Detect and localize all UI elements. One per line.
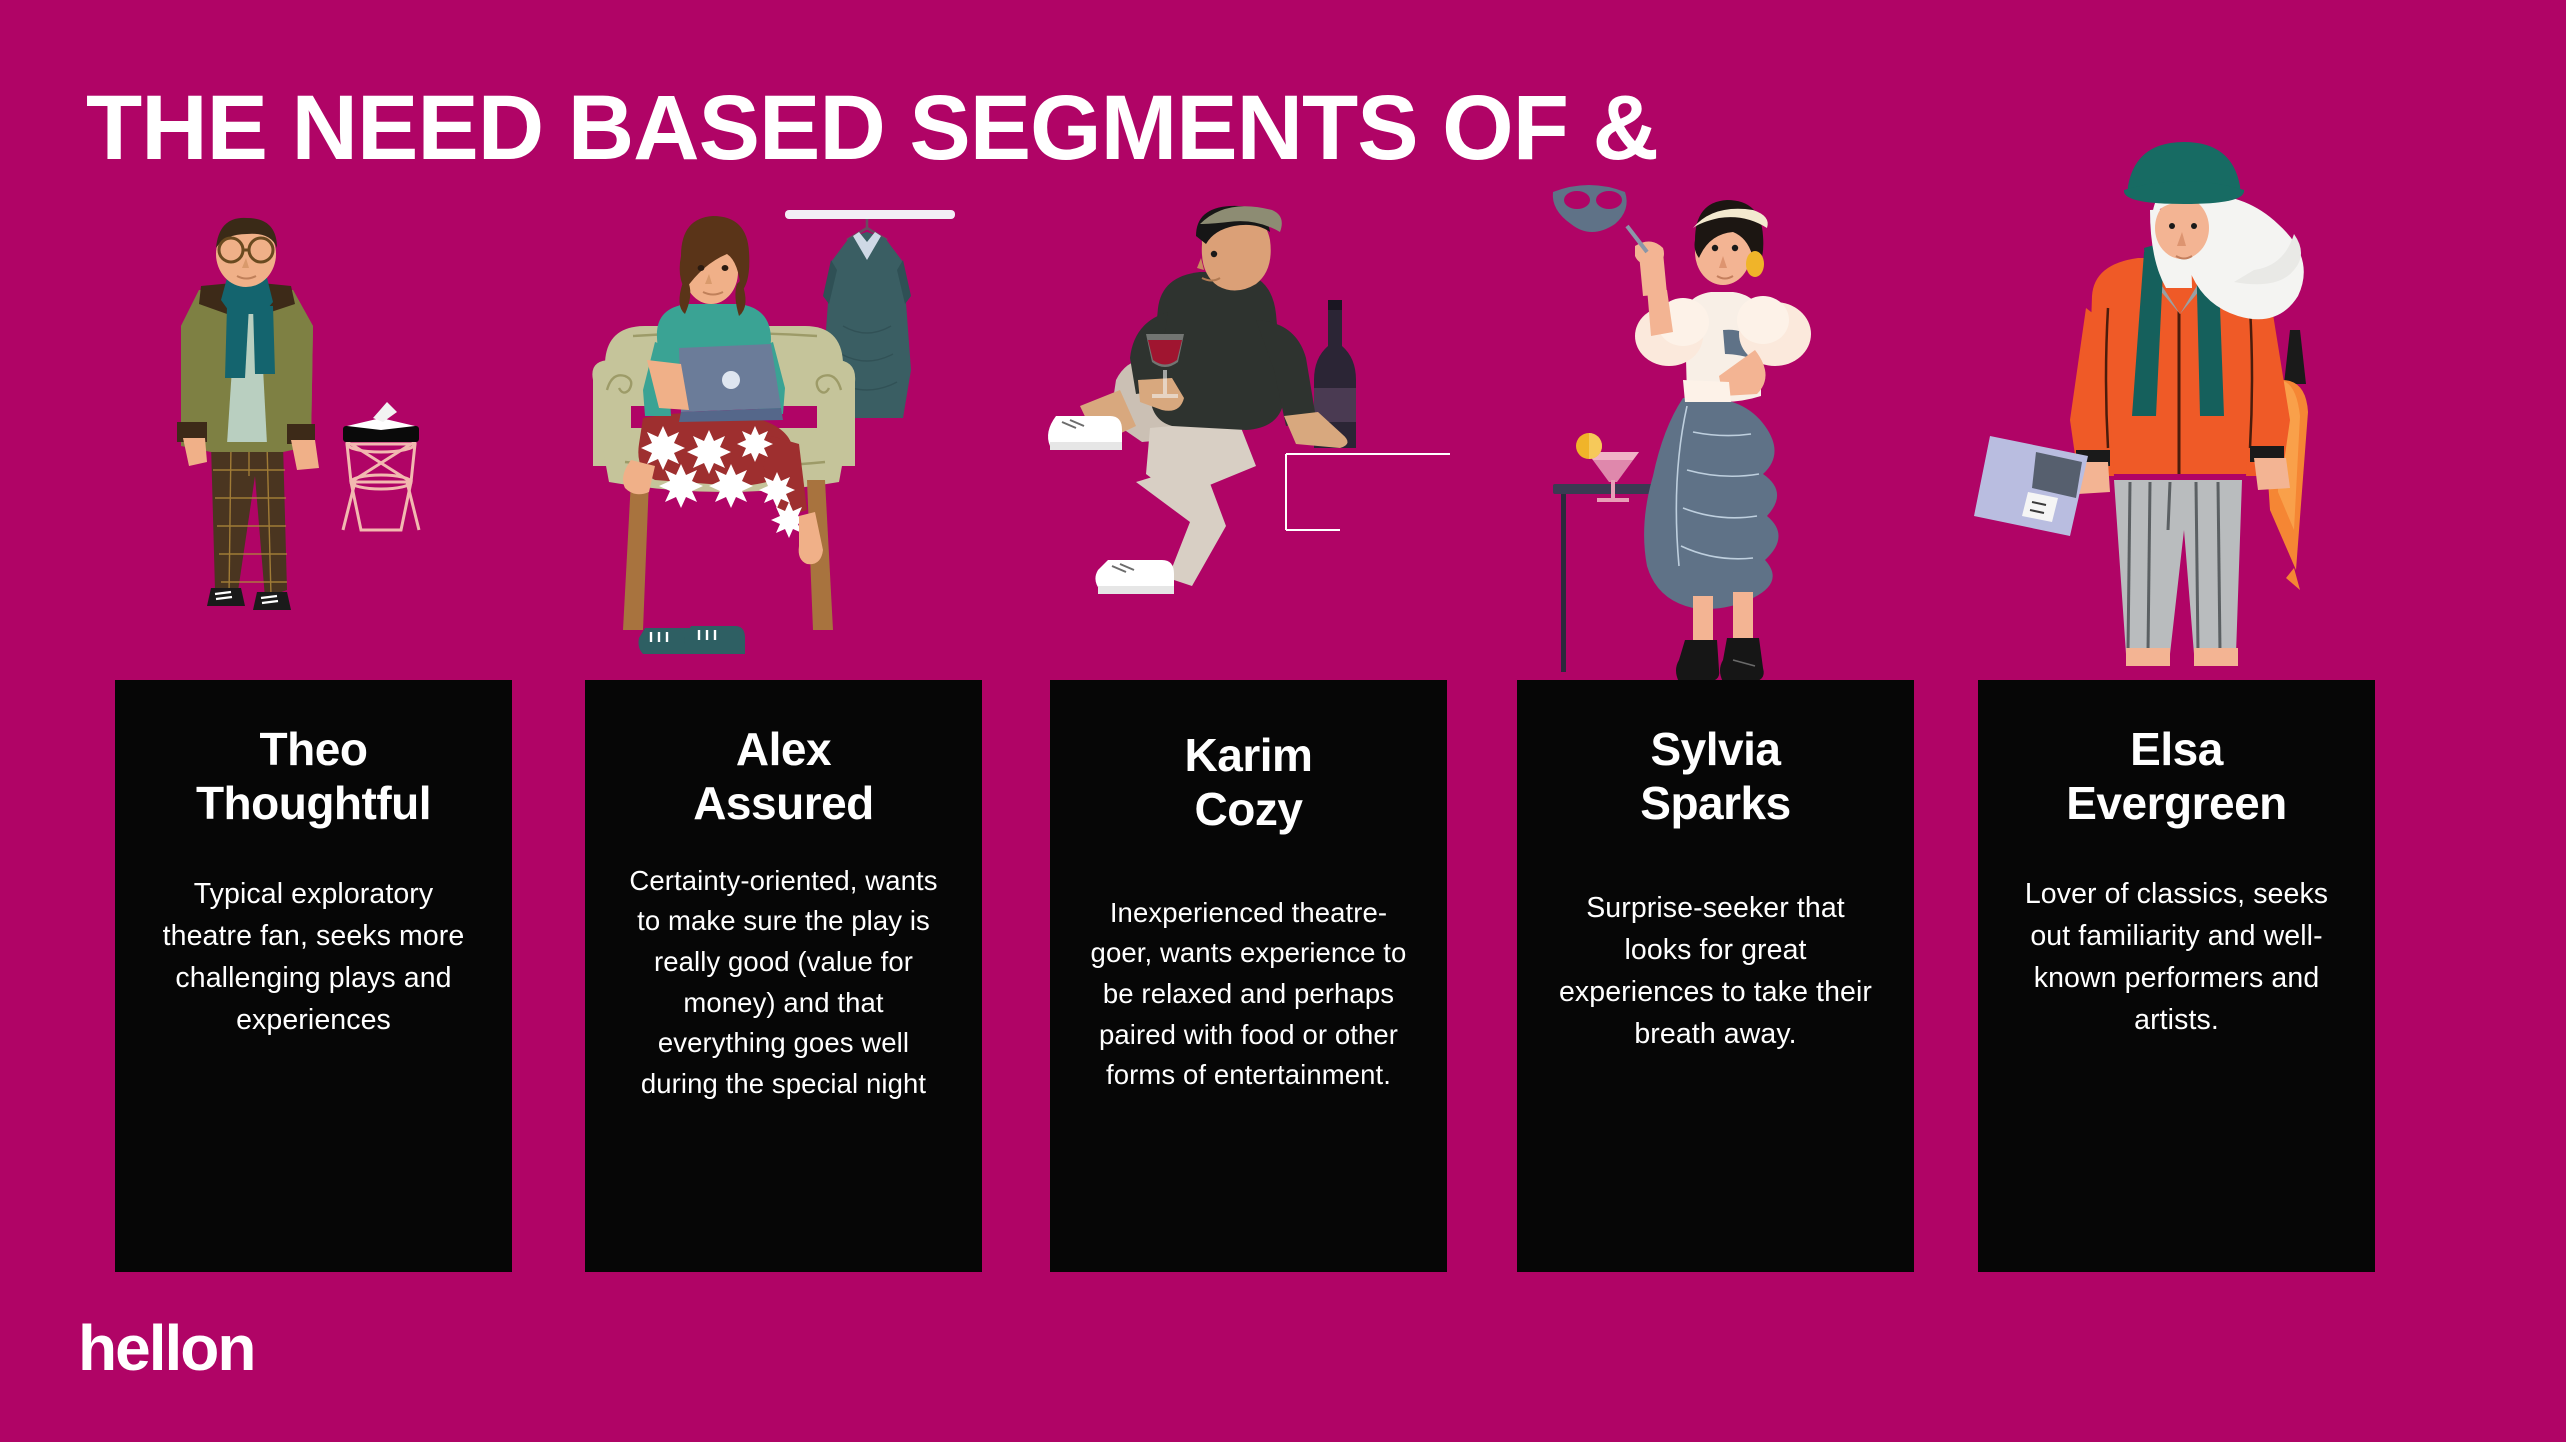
segment-name-line1: Alex — [736, 723, 831, 775]
segment-column-theo: Theo Thoughtful Typical exploratory thea… — [115, 0, 515, 1442]
segment-description: Lover of classics, seeks out familiarity… — [2012, 873, 2341, 1042]
segment-card-sylvia[interactable]: Sylvia Sparks Surprise-seeker that looks… — [1517, 680, 1914, 1272]
segment-columns: Theo Thoughtful Typical exploratory thea… — [0, 0, 2566, 1442]
segment-name-line1: Elsa — [2130, 723, 2223, 775]
segment-column-karim: Karim Cozy Inexperienced theatre-goer, w… — [1050, 0, 1450, 1442]
segment-name-line2: Cozy — [1195, 783, 1303, 835]
segment-name-line2: Thoughtful — [196, 777, 431, 829]
segment-description: Surprise-seeker that looks for great exp… — [1551, 887, 1880, 1056]
segment-name-line2: Sparks — [1640, 777, 1790, 829]
illustration-elsa-evergreen — [1978, 230, 2378, 710]
segment-name: Sylvia Sparks — [1551, 722, 1880, 831]
segment-description: Typical exploratory theatre fan, seeks m… — [149, 873, 478, 1042]
segment-name: Elsa Evergreen — [2012, 722, 2341, 831]
segment-name: Karim Cozy — [1084, 728, 1413, 837]
segment-column-sylvia: Sylvia Sparks Surprise-seeker that looks… — [1517, 0, 1917, 1442]
segment-card-karim[interactable]: Karim Cozy Inexperienced theatre-goer, w… — [1050, 680, 1447, 1272]
segment-name-line2: Evergreen — [2066, 777, 2287, 829]
hellon-logo: hellon — [78, 1316, 254, 1380]
segment-description: Certainty-oriented, wants to make sure t… — [619, 861, 948, 1105]
illustration-karim-cozy — [1050, 230, 1450, 710]
illustration-theo-thoughtful — [115, 230, 515, 710]
segment-name-line2: Assured — [693, 777, 874, 829]
segment-card-elsa[interactable]: Elsa Evergreen Lover of classics, seeks … — [1978, 680, 2375, 1272]
segment-column-elsa: Elsa Evergreen Lover of classics, seeks … — [1978, 0, 2378, 1442]
illustration-sylvia-sparks — [1517, 230, 1917, 710]
segment-card-alex[interactable]: Alex Assured Certainty-oriented, wants t… — [585, 680, 982, 1272]
segment-description: Inexperienced theatre-goer, wants experi… — [1084, 893, 1413, 1096]
segment-name-line1: Sylvia — [1651, 723, 1781, 775]
segment-column-alex: Alex Assured Certainty-oriented, wants t… — [585, 0, 985, 1442]
segment-name: Alex Assured — [619, 722, 948, 831]
segment-card-theo[interactable]: Theo Thoughtful Typical exploratory thea… — [115, 680, 512, 1272]
segment-name-line1: Karim — [1185, 729, 1313, 781]
illustration-alex-assured — [585, 230, 985, 710]
segment-name: Theo Thoughtful — [149, 722, 478, 831]
segment-name-line1: Theo — [260, 723, 368, 775]
